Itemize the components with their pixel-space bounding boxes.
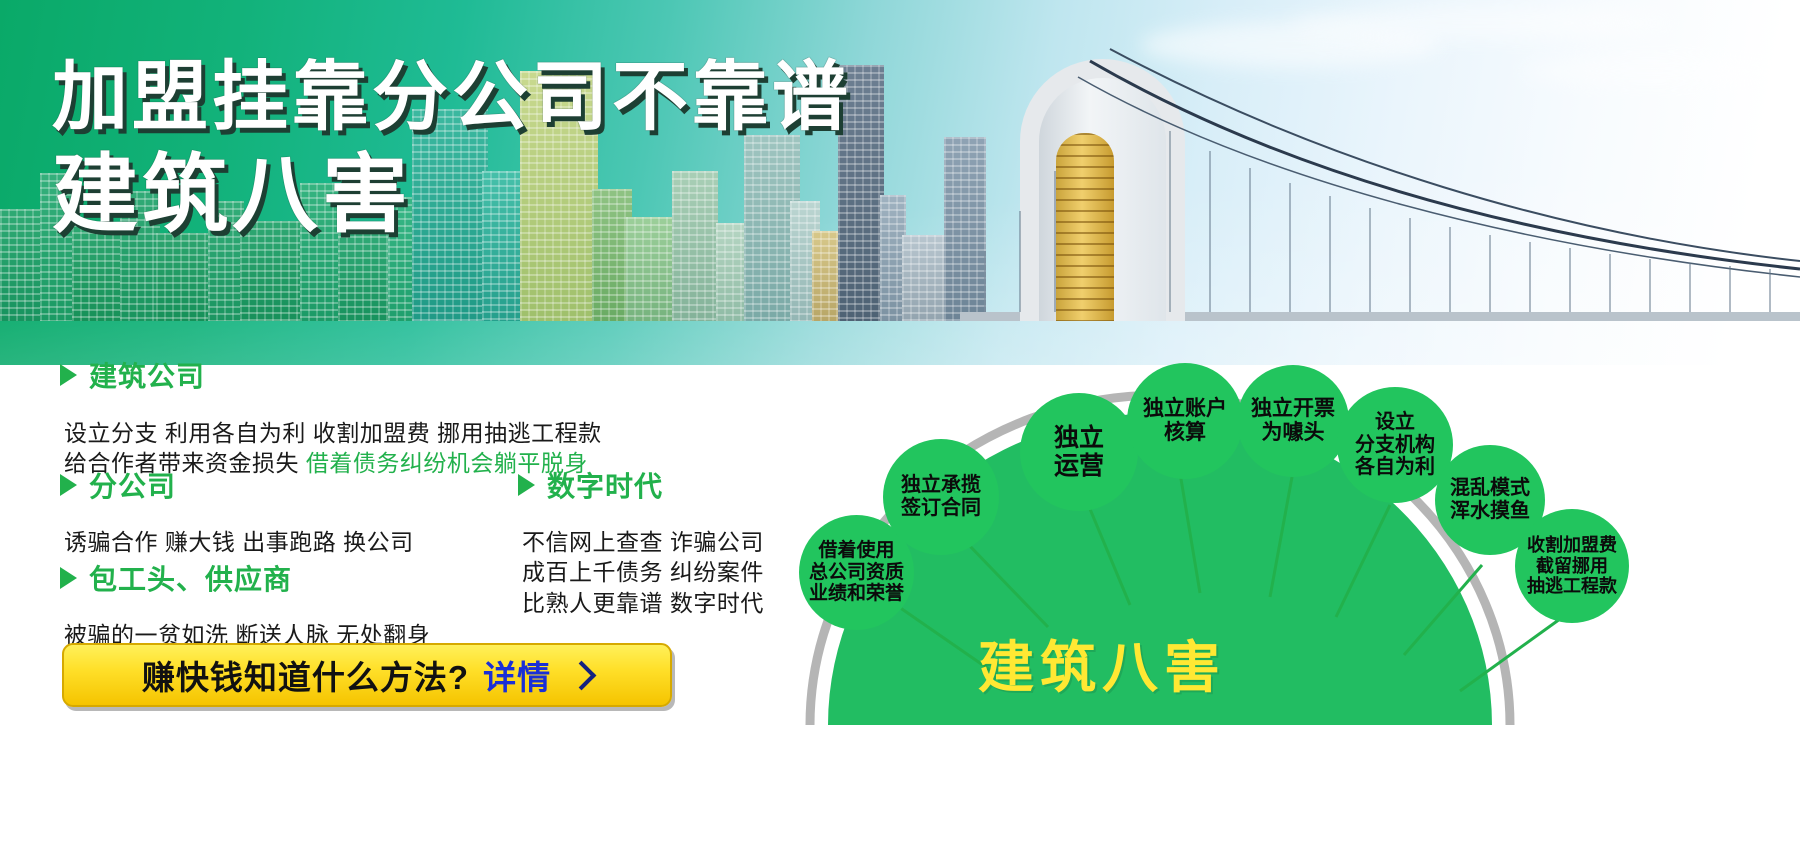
bubble-text: 独立 运营: [1054, 424, 1104, 481]
bubble-independent-contracting[interactable]: 独立承揽 签订合同: [883, 439, 999, 555]
hero-banner: 加盟挂靠分公司不靠谱 建筑八害: [0, 0, 1800, 365]
left-content-column: 建筑公司 设立分支 利用各自为利 收割加盟费 挪用抽逃工程款 给合作者带来资金损…: [0, 365, 800, 844]
triangle-bullet-icon: [518, 474, 535, 496]
cta-button[interactable]: 赚快钱知道什么方法? 详情: [62, 643, 672, 707]
section-body: 不信网上查查 诈骗公司 成百上千债务 纠纷案件 比熟人更靠谱 数字时代: [522, 527, 764, 618]
hero-title-line-2: 建筑八害: [52, 152, 852, 238]
body-line: 成百上千债务 纠纷案件: [522, 557, 764, 587]
section-contractor-supplier: 包工头、供应商 被骗的一贫如洗 断送人脉 无处翻身: [60, 558, 430, 650]
body-line: 设立分支 利用各自为利 收割加盟费 挪用抽逃工程款: [64, 418, 602, 448]
body-line: 诱骗合作 赚大钱 出事跑路 换公司: [64, 527, 414, 557]
section-digital-era: 数字时代 不信网上查查 诈骗公司 成百上千债务 纠纷案件 比熟人更靠谱 数字时代: [518, 465, 764, 618]
triangle-bullet-icon: [60, 364, 77, 386]
bubble-text: 独立开票 为噱头: [1251, 397, 1335, 445]
poster-root: 加盟挂靠分公司不靠谱 建筑八害 建筑公司 设立分支 利用各自为利 收割加盟费 挪…: [0, 0, 1800, 844]
cta-label: 赚快钱知道什么方法?: [142, 651, 469, 699]
bubble-text: 设立 分支机构 各自为利: [1355, 411, 1435, 479]
section-body: 诱骗合作 赚大钱 出事跑路 换公司: [64, 527, 414, 557]
hero-title-line-1: 加盟挂靠分公司不靠谱: [52, 60, 852, 136]
body-text: 设立分支 利用各自为利 收割加盟费 挪用抽逃工程款: [64, 420, 602, 446]
bubble-text: 收割加盟费 截留挪用 抽逃工程款: [1527, 535, 1617, 597]
section-title: 建筑公司: [89, 355, 205, 395]
section-branch-company: 分公司 诱骗合作 赚大钱 出事跑路 换公司: [60, 465, 414, 557]
bubble-independent-account[interactable]: 独立账户 核算: [1127, 363, 1243, 479]
triangle-bullet-icon: [60, 474, 77, 496]
bubble-independent-operation[interactable]: 独立 运营: [1020, 393, 1138, 511]
bridge-illustration: [960, 21, 1800, 321]
bubble-text: 借着使用 总公司资质 业绩和荣誉: [809, 540, 904, 605]
body-line: 不信网上查查 诈骗公司: [522, 527, 764, 557]
section-heading: 分公司: [60, 465, 414, 505]
bubble-independent-invoice[interactable]: 独立开票 为噱头: [1237, 365, 1349, 477]
section-heading: 包工头、供应商: [60, 558, 430, 598]
triangle-bullet-icon: [60, 567, 77, 589]
hero-title-block: 加盟挂靠分公司不靠谱 建筑八害: [52, 60, 852, 238]
bubble-text: 混乱模式 浑水摸鱼: [1450, 477, 1530, 523]
bubble-harvest-fees[interactable]: 收割加盟费 截留挪用 抽逃工程款: [1515, 509, 1629, 623]
bubble-set-up-branch[interactable]: 设立 分支机构 各自为利: [1337, 387, 1453, 503]
bubble-text: 独立账户 核算: [1143, 397, 1227, 445]
section-heading: 数字时代: [518, 465, 764, 505]
section-title: 数字时代: [547, 465, 663, 505]
dome-center-label: 建筑八害: [978, 623, 1226, 704]
section-construction-company: 建筑公司 设立分支 利用各自为利 收割加盟费 挪用抽逃工程款 给合作者带来资金损…: [60, 355, 602, 479]
body-line: 比熟人更靠谱 数字时代: [522, 588, 764, 618]
section-title: 包工头、供应商: [89, 558, 292, 598]
section-title: 分公司: [89, 465, 176, 505]
bridge-cables: [960, 21, 1800, 321]
cta-detail-link[interactable]: 详情: [483, 651, 551, 699]
bubble-text: 独立承揽 签订合同: [901, 474, 981, 520]
mindmap-diagram: 借着使用 总公司资质 业绩和荣誉 独立承揽 签订合同 独立 运营 独立账户 核算: [800, 365, 1800, 844]
chevron-right-icon: [567, 660, 597, 690]
section-heading: 建筑公司: [60, 355, 602, 395]
